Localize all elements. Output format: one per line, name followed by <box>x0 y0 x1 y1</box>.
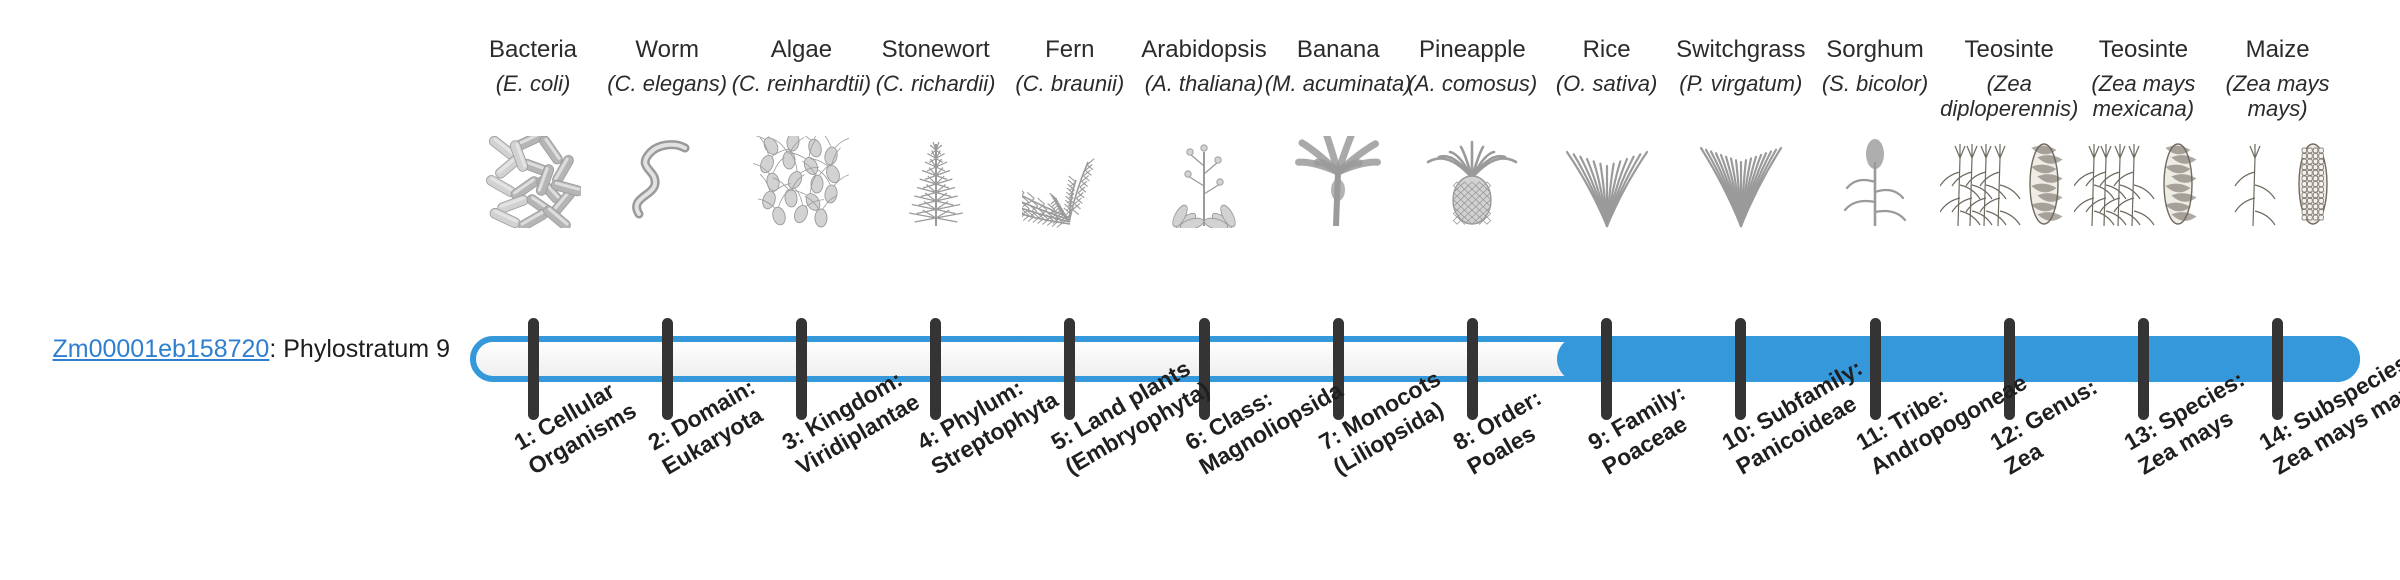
species-column-rice: Rice(O. sativa) <box>1533 36 1681 228</box>
species-column-worm: Worm(C. elegans) <box>593 36 741 228</box>
phylostratum-chart: Zm00001eb158720: Phylostratum 9 Bacteria… <box>0 0 2400 580</box>
species-common-name: Switchgrass <box>1667 36 1815 66</box>
species-scientific-name: (A. comosus) <box>1398 72 1546 130</box>
species-common-name: Bacteria <box>459 36 607 66</box>
species-scientific-name: (A. thaliana) <box>1130 72 1278 130</box>
species-scientific-name: (Zea mays mays) <box>2194 72 2362 130</box>
gene-phylostratum-label: Zm00001eb158720: Phylostratum 9 <box>30 334 450 364</box>
species-common-name: Rice <box>1533 36 1681 66</box>
species-scientific-name: (C. braunii) <box>996 72 1144 130</box>
species-common-name: Banana <box>1264 36 1412 66</box>
species-column-arabidopsis: Arabidopsis(A. thaliana) <box>1130 36 1278 228</box>
species-scientific-name: (C. elegans) <box>593 72 741 130</box>
species-common-name: Arabidopsis <box>1130 36 1278 66</box>
stonewort-illustration <box>862 132 1010 228</box>
species-common-name: Pineapple <box>1398 36 1546 66</box>
species-common-name: Stonewort <box>862 36 1010 66</box>
worm-illustration <box>593 132 741 228</box>
arabidopsis-illustration <box>1130 132 1278 228</box>
species-scientific-name: (C. richardii) <box>862 72 1010 130</box>
species-scientific-name: (O. sativa) <box>1533 72 1681 130</box>
species-scientific-name: (M. acuminata) <box>1264 72 1412 130</box>
species-common-name: Maize <box>2194 36 2362 66</box>
switchgrass-illustration <box>1667 132 1815 228</box>
species-column-algae: Algae(C. reinhardtii) <box>727 36 875 228</box>
bacteria-illustration <box>459 132 607 228</box>
species-scientific-name: (E. coli) <box>459 72 607 130</box>
species-common-name: Algae <box>727 36 875 66</box>
banana-illustration <box>1264 132 1412 228</box>
phylostratum-value-text: Phylostratum 9 <box>283 335 450 363</box>
species-column-fern: Fern(C. braunii) <box>996 36 1144 228</box>
maize-illustration <box>2194 132 2362 228</box>
gene-id-link[interactable]: Zm00001eb158720 <box>52 335 269 363</box>
species-column-maize: Maize(Zea mays mays) <box>2194 36 2362 228</box>
species-common-name: Worm <box>593 36 741 66</box>
species-column-stonewort: Stonewort(C. richardii) <box>862 36 1010 228</box>
phylostratum-name: Cellular Organisms <box>524 377 641 479</box>
rice-illustration <box>1533 132 1681 228</box>
species-column-bacteria: Bacteria(E. coli) <box>459 36 607 228</box>
species-column-banana: Banana(M. acuminata) <box>1264 36 1412 228</box>
species-column-switchgrass: Switchgrass(P. virgatum) <box>1667 36 1815 228</box>
phylostratum-tick-1 <box>528 318 539 420</box>
species-scientific-name: (C. reinhardtii) <box>727 72 875 130</box>
pineapple-illustration <box>1398 132 1546 228</box>
species-scientific-name: (P. virgatum) <box>1667 72 1815 130</box>
species-common-name: Fern <box>996 36 1144 66</box>
species-column-pineapple: Pineapple(A. comosus) <box>1398 36 1546 228</box>
gene-label-separator: : <box>269 335 283 363</box>
fern-illustration <box>996 132 1144 228</box>
algae-illustration <box>727 132 875 228</box>
